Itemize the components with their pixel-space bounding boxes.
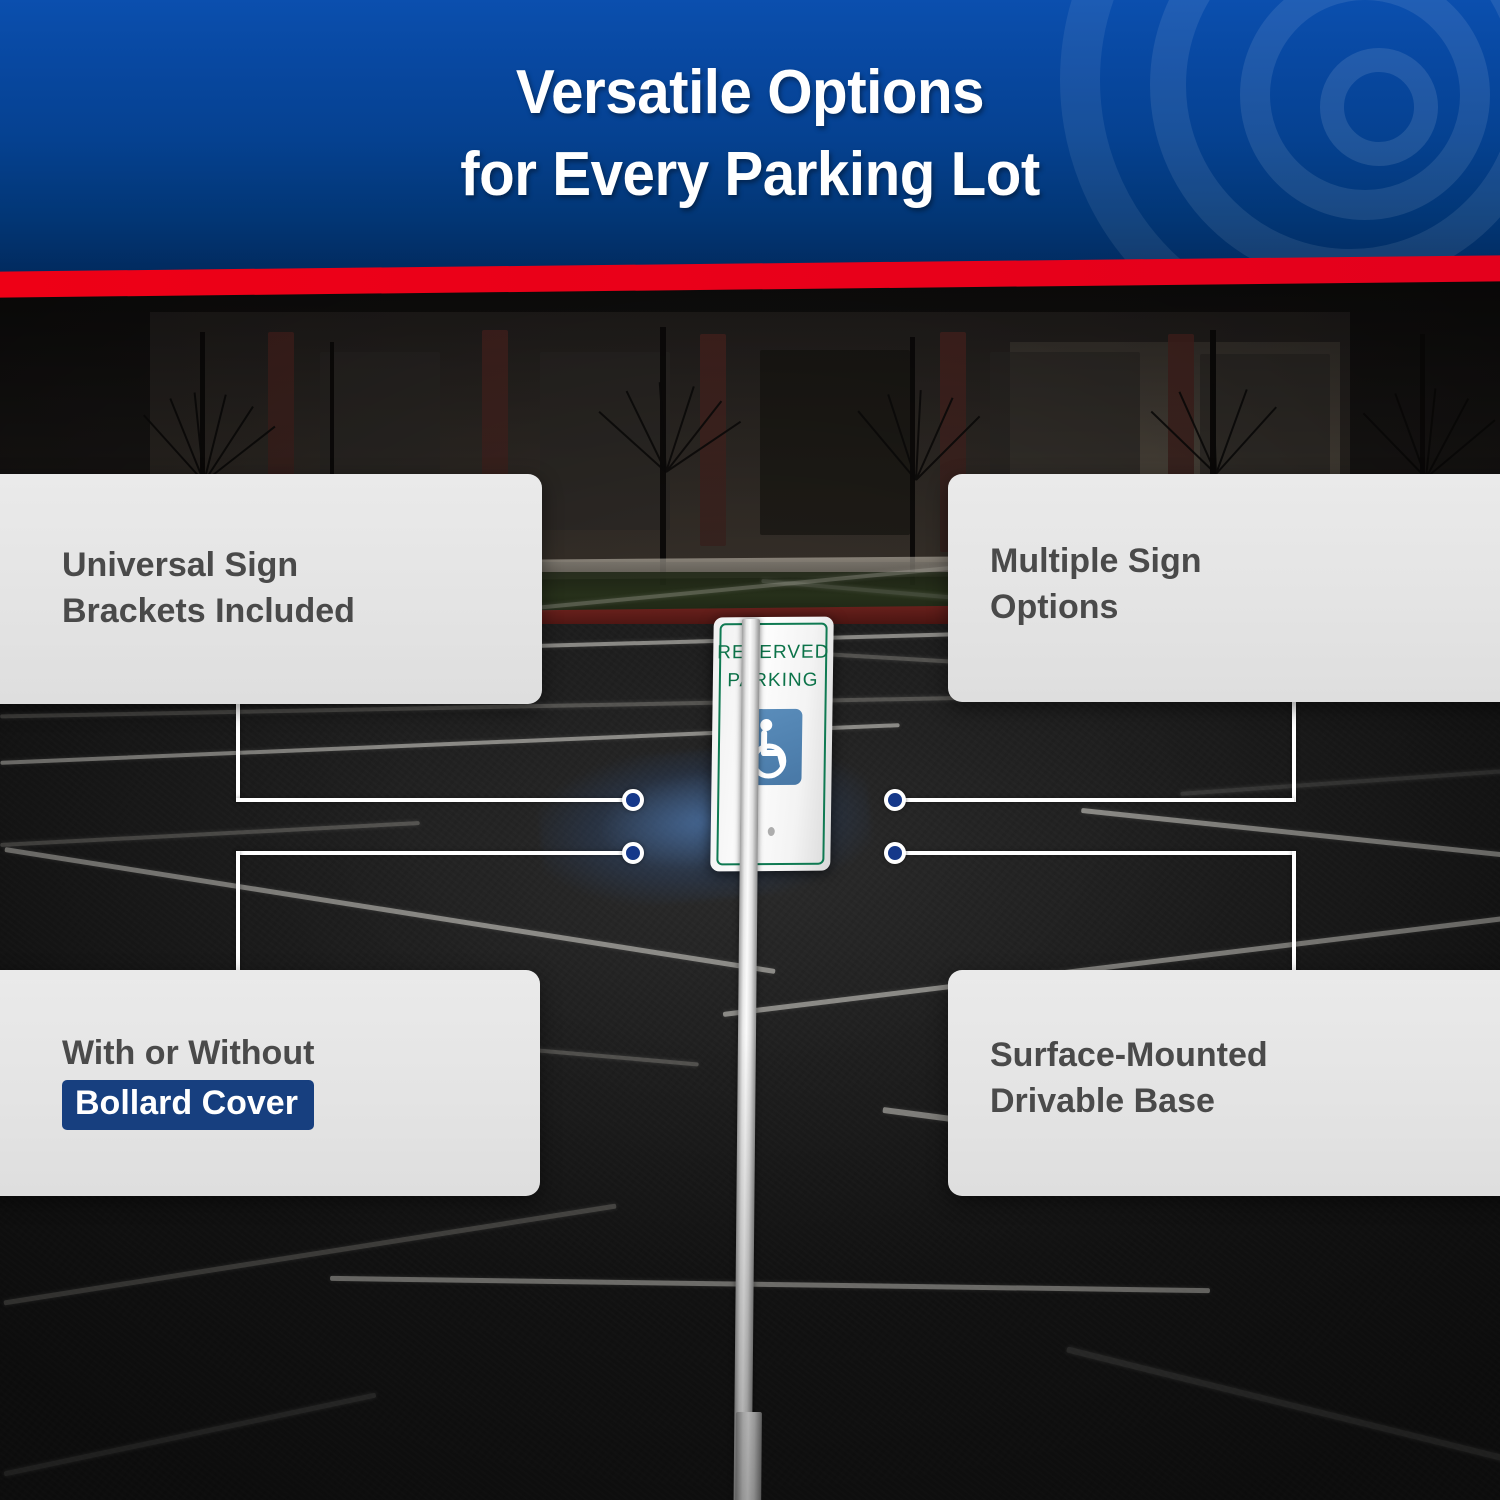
title-line-1: Versatile Options	[45, 52, 1455, 134]
callout-card-bollard-cover[interactable]: With or Without Bollard Cover	[0, 970, 540, 1196]
parking-lot-photo: RESERVED PARKING	[0, 272, 1500, 1500]
reserved-parking-sign: RESERVED PARKING	[710, 617, 834, 872]
callout-text: Universal Sign Brackets Included	[62, 542, 355, 634]
callout-text: Surface-Mounted Drivable Base	[990, 1032, 1268, 1124]
sign-text-line2: PARKING	[713, 670, 833, 693]
connector-line-vertical	[1292, 851, 1296, 973]
tree-branches	[580, 282, 750, 472]
connector-dot	[622, 789, 644, 811]
connector-line-horizontal	[236, 798, 634, 802]
sign-text-line1: RESERVED	[713, 642, 833, 665]
tree-branches	[1340, 288, 1500, 478]
connector-line-vertical	[1292, 698, 1296, 802]
title-line-2: for Every Parking Lot	[45, 134, 1455, 216]
tree-branches	[118, 292, 288, 482]
header-banner: Versatile Options for Every Parking Lot	[0, 0, 1500, 280]
connector-line-vertical	[236, 851, 240, 973]
connector-line-vertical	[236, 700, 240, 802]
callout-card-multiple-sign-options[interactable]: Multiple Sign Options	[948, 474, 1500, 702]
connector-dot	[884, 842, 906, 864]
callout-line-1: With or Without	[62, 1030, 314, 1076]
callout-line-2: Drivable Base	[990, 1078, 1268, 1124]
infographic-stage: RESERVED PARKING Versat	[0, 0, 1500, 1500]
connector-dot	[884, 789, 906, 811]
callout-text: With or Without Bollard Cover	[62, 1030, 314, 1130]
sign-post-lower	[734, 1412, 762, 1500]
tree-branches	[1130, 284, 1300, 474]
callout-card-surface-mounted-drivable-base[interactable]: Surface-Mounted Drivable Base	[948, 970, 1500, 1196]
connector-dot	[622, 842, 644, 864]
bollard-cover-badge: Bollard Cover	[62, 1080, 314, 1129]
callout-line-2: Options	[990, 584, 1202, 630]
page-title: Versatile Options for Every Parking Lot	[45, 52, 1455, 217]
callout-card-universal-sign-brackets[interactable]: Universal Sign Brackets Included	[0, 474, 542, 704]
callout-line-1: Surface-Mounted	[990, 1032, 1268, 1078]
tree-branches	[830, 290, 1000, 480]
callout-line-1: Universal Sign	[62, 542, 355, 588]
connector-line-horizontal	[236, 851, 634, 855]
connector-line-horizontal	[894, 851, 1294, 855]
callout-text: Multiple Sign Options	[990, 538, 1202, 630]
connector-line-horizontal	[894, 798, 1294, 802]
callout-line-2: Brackets Included	[62, 588, 355, 634]
callout-line-1: Multiple Sign	[990, 538, 1202, 584]
